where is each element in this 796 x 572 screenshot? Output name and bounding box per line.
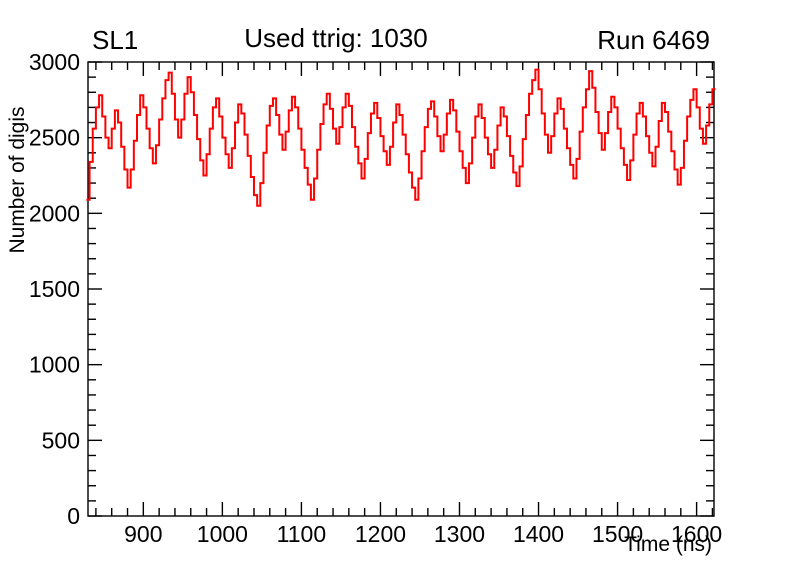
root-canvas: SL1 Used ttrig: 1030 Run 6469 Number of … bbox=[0, 0, 796, 572]
y-tick-label: 1000 bbox=[29, 352, 80, 378]
y-tick-label: 2500 bbox=[29, 125, 80, 151]
y-tick-label: 2000 bbox=[29, 200, 80, 226]
x-tick-label: 1400 bbox=[513, 521, 564, 547]
x-tick-label: 1600 bbox=[671, 521, 722, 547]
y-axis-title: Number of digis bbox=[6, 106, 29, 253]
x-axis-tick-labels: 9001000110012001300140015001600 bbox=[124, 521, 722, 547]
x-tick-label: 1300 bbox=[434, 521, 485, 547]
y-tick-label: 500 bbox=[42, 427, 80, 453]
x-tick-label: 1000 bbox=[197, 521, 248, 547]
y-tick-label: 3000 bbox=[29, 49, 80, 75]
y-axis-tick-labels: 050010001500200025003000 bbox=[29, 49, 80, 529]
y-tick-label: 0 bbox=[67, 503, 80, 529]
x-tick-label: 1100 bbox=[277, 521, 326, 547]
x-tick-label: 900 bbox=[124, 521, 162, 547]
x-tick-label: 1500 bbox=[592, 521, 643, 547]
pad-label-right: Run 6469 bbox=[597, 25, 710, 55]
x-tick-label: 1200 bbox=[355, 521, 406, 547]
y-tick-label: 1500 bbox=[29, 276, 80, 302]
plot-canvas: SL1 Used ttrig: 1030 Run 6469 Number of … bbox=[0, 0, 796, 572]
histogram-curve bbox=[86, 70, 715, 206]
pad-label-left: SL1 bbox=[92, 25, 138, 55]
pad-title: Used ttrig: 1030 bbox=[244, 23, 428, 53]
